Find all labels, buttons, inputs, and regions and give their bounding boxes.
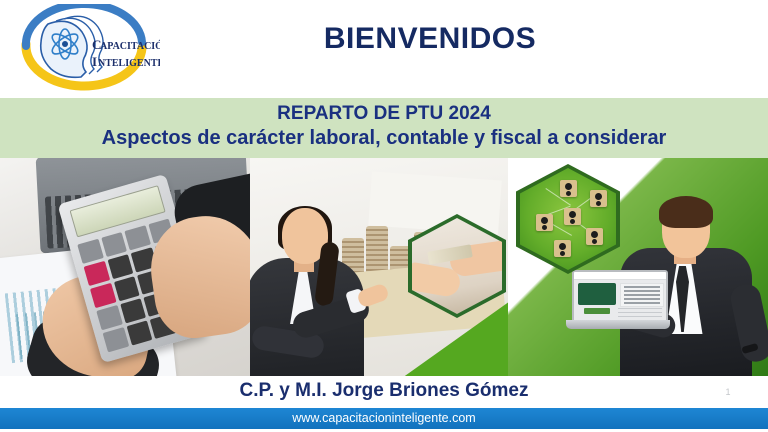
presentation-slide: C APACITACIÓN I NTELIGENTE BIENVENIDOS R… — [0, 0, 768, 432]
presenter-name: C.P. y M.I. Jorge Briones Gómez — [0, 380, 768, 402]
website-navbar — [574, 272, 666, 280]
person-block-icon — [590, 190, 607, 207]
people-network-image — [520, 168, 616, 270]
page-title: BIENVENIDOS — [160, 22, 700, 56]
slide-header: C APACITACIÓN I NTELIGENTE BIENVENIDOS — [0, 0, 768, 98]
website-list-rows — [618, 308, 662, 320]
laptop-base — [566, 320, 670, 329]
man-hair — [659, 196, 713, 228]
person-block-icon — [564, 208, 581, 225]
laptop-screen — [572, 270, 668, 326]
svg-text:APACITACIÓN: APACITACIÓN — [100, 40, 160, 52]
person-block-icon — [586, 228, 603, 245]
person-block-icon — [560, 180, 577, 197]
slide-number: 1 — [718, 387, 738, 397]
banner-subtitle-line1: REPARTO DE PTU 2024 — [0, 103, 768, 125]
calculator-desk-photo — [0, 158, 250, 376]
website-url[interactable]: www.capacitacioninteligente.com — [0, 411, 768, 425]
person-block-icon — [536, 214, 553, 231]
website-hero-panel — [578, 283, 616, 305]
businesswoman-figure — [250, 176, 376, 376]
held-laptop — [566, 270, 670, 332]
footer-bar: www.capacitacioninteligente.com — [0, 408, 768, 429]
logo-text-line2: I — [92, 54, 97, 69]
logo-graphic: C APACITACIÓN I NTELIGENTE — [12, 4, 160, 94]
website-text-panel — [620, 283, 664, 307]
website-cta-button — [584, 308, 610, 314]
banner-subtitle-line2: Aspectos de carácter laboral, contable y… — [0, 127, 768, 150]
capacitacion-inteligente-logo: C APACITACIÓN I NTELIGENTE — [12, 4, 160, 94]
presenter-bar: C.P. y M.I. Jorge Briones Gómez 1 — [0, 376, 768, 408]
money-exchange-image — [412, 218, 502, 314]
person-block-icon — [554, 240, 571, 257]
svg-text:NTELIGENTE: NTELIGENTE — [98, 58, 160, 69]
photo-collage: CAPACITACIÓN INTELIGENTE Formación Integ… — [0, 158, 768, 376]
background-document — [368, 172, 501, 235]
title-banner: REPARTO DE PTU 2024 Aspectos de carácter… — [0, 98, 768, 158]
